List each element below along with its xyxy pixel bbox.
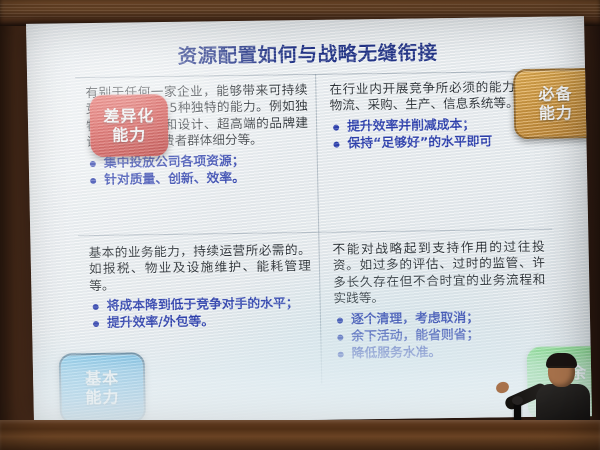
cell-bullet-list: 集中投放公司各项资源； 针对质量、创新、效率。 bbox=[87, 152, 310, 189]
badge-line-1: 差异化 bbox=[103, 106, 154, 126]
list-item: 保持“足够好”的水平即可 bbox=[330, 133, 542, 153]
badge-basic-capability: 基本 能力 bbox=[59, 352, 146, 423]
badge-essential-capability: 必备 能力 bbox=[513, 68, 592, 139]
screenshot-stage: 资源配置如何与战略无缝衔接 有别于任何一家企业，能够带来可持续竞争优势的3~5种… bbox=[0, 0, 600, 450]
microphone-head-icon bbox=[512, 396, 523, 405]
list-item: 提升效率/外包等。 bbox=[90, 312, 312, 332]
matrix-vertical-divider bbox=[315, 74, 322, 384]
presentation-slide: 资源配置如何与战略无缝衔接 有别于任何一家企业，能够带来可持续竞争优势的3~5种… bbox=[26, 16, 592, 424]
badge-line-2: 能力 bbox=[539, 103, 573, 122]
cell-paragraph: 基本的业务能力，持续运营所必需的。如报税、物业及设施维护、能耗管理等。 bbox=[88, 242, 311, 294]
glasses-icon bbox=[549, 366, 574, 374]
cell-surplus-capability: 不能对战略起到支持作用的过往投资。如过多的评估、过时的监管、许多长久存在但不合时… bbox=[326, 235, 552, 363]
desk-surface bbox=[0, 420, 600, 450]
cell-bullet-list: 将成本降到低于竞争对手的水平； 提升效率/外包等。 bbox=[90, 295, 313, 332]
badge-line-2: 能力 bbox=[85, 388, 119, 407]
badge-line-2: 能力 bbox=[112, 125, 146, 144]
badge-differentiating-capability: 差异化 能力 bbox=[89, 94, 168, 157]
list-item: 针对质量、创新、效率。 bbox=[87, 169, 309, 189]
projection-screen: 资源配置如何与战略无缝衔接 有别于任何一家企业，能够带来可持续竞争优势的3~5种… bbox=[26, 16, 592, 424]
cell-bullet-list: 提升效率并削减成本； 保持“足够好”的水平即可 bbox=[330, 116, 543, 153]
cell-bullet-list: 逐个清理，考虑取消； 余下活动，能省则省； 降低服务水准。 bbox=[334, 308, 547, 362]
slide-title: 资源配置如何与战略无缝衔接 bbox=[122, 35, 493, 69]
badge-line-1: 基本 bbox=[85, 369, 119, 388]
cell-paragraph: 不能对战略起到支持作用的过往投资。如过多的评估、过时的监管、许多长久存在但不合时… bbox=[332, 239, 545, 308]
cell-basic-capability: 基本的业务能力，持续运营所必需的。如报税、物业及设施维护、能耗管理等。 将成本降… bbox=[82, 238, 318, 332]
list-item: 降低服务水准。 bbox=[335, 342, 547, 362]
badge-line-1: 必备 bbox=[538, 84, 572, 103]
cell-paragraph: 在行业内开展竞争所必须的能力。如物流、采购、生产、信息系统等。 bbox=[329, 79, 542, 115]
